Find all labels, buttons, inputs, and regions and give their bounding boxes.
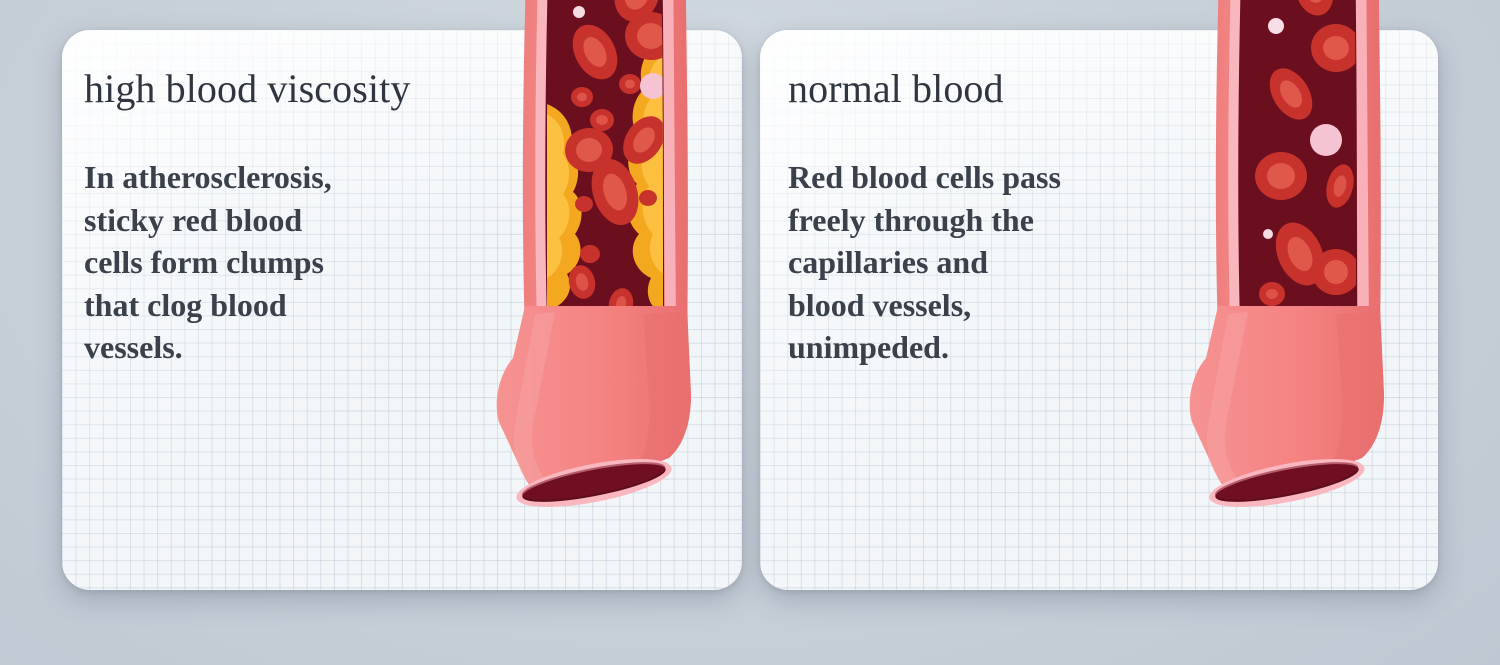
body-line: Red blood cells pass <box>788 159 1061 195</box>
body-line: freely through the <box>788 202 1034 238</box>
page-title-high-blood-viscosity: high blood viscosity <box>84 68 514 110</box>
text-block-high-blood-viscosity: high blood viscosity In atherosclerosis,… <box>84 68 514 369</box>
body-line: blood vessels, <box>788 287 971 323</box>
body-line: sticky red blood <box>84 202 302 238</box>
text-block-normal-blood: normal blood Red blood cells pass freely… <box>788 68 1208 369</box>
body-line: capillaries and <box>788 244 988 280</box>
body-line: vessels. <box>84 329 183 365</box>
infographic-canvas: high blood viscosity In atherosclerosis,… <box>0 0 1500 665</box>
body-text-high-blood-viscosity: In atherosclerosis, sticky red blood cel… <box>84 156 514 369</box>
body-line: unimpeded. <box>788 329 949 365</box>
body-line: In atherosclerosis, <box>84 159 332 195</box>
body-text-normal-blood: Red blood cells pass freely through the … <box>788 156 1208 369</box>
body-line: cells form clumps <box>84 244 324 280</box>
page-title-normal-blood: normal blood <box>788 68 1208 110</box>
body-line: that clog blood <box>84 287 287 323</box>
platelet <box>573 6 585 18</box>
